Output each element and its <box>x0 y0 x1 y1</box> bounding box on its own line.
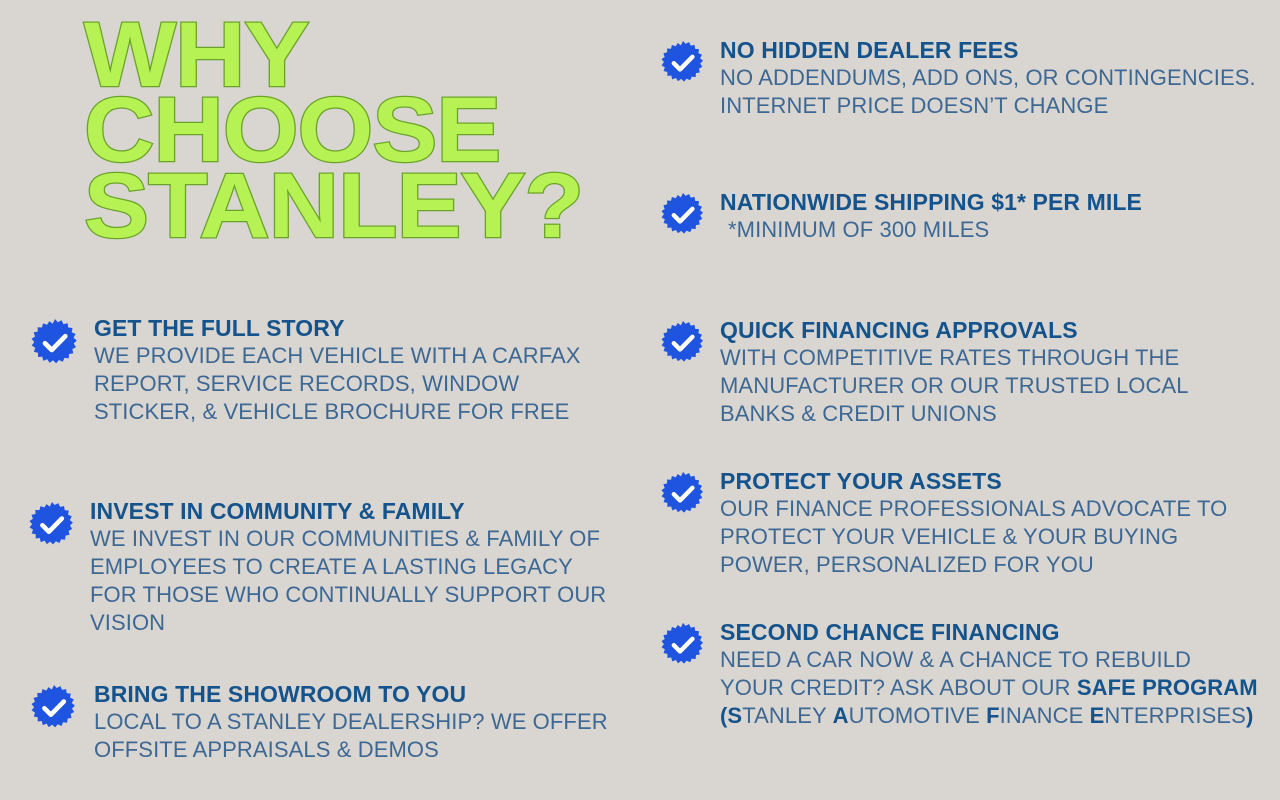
desc-word-enterprises: NTERPRISES <box>1104 703 1246 728</box>
verified-check-badge-icon <box>30 318 80 368</box>
feature-title: NATIONWIDE SHIPPING $1* PER MILE <box>716 190 1260 216</box>
feature-title: PROTECT YOUR ASSETS <box>716 469 1260 495</box>
verified-check-badge-icon <box>660 320 706 366</box>
feature-item-no-hidden-dealer-fees: NO HIDDEN DEALER FEES NO ADDENDUMS, ADD … <box>660 38 1260 120</box>
verified-check-badge-icon <box>30 684 78 732</box>
feature-item-quick-financing-approvals: QUICK FINANCING APPROVALS WITH COMPETITI… <box>660 318 1260 428</box>
page-title: WHY CHOOSE STANLEY? <box>84 18 635 244</box>
desc-cap-f: F <box>986 703 1000 728</box>
feature-description: NEED A CAR NOW & A CHANCE TO REBUILD YOU… <box>716 646 1260 730</box>
verified-check-badge-icon <box>660 40 706 86</box>
feature-title: GET THE FULL STORY <box>88 316 610 342</box>
feature-text-block: QUICK FINANCING APPROVALS WITH COMPETITI… <box>716 318 1260 428</box>
feature-description: OUR FINANCE PROFESSIONALS ADVOCATE TO PR… <box>716 495 1260 579</box>
feature-text-block: NO HIDDEN DEALER FEES NO ADDENDUMS, ADD … <box>716 38 1260 120</box>
feature-title: NO HIDDEN DEALER FEES <box>716 38 1260 64</box>
desc-program-close: ) <box>1246 703 1253 728</box>
feature-text-block: BRING THE SHOWROOM TO YOU LOCAL TO A STA… <box>86 682 610 764</box>
feature-text-block: SECOND CHANCE FINANCING NEED A CAR NOW &… <box>716 620 1260 730</box>
desc-word-stanley: TANLEY <box>742 703 832 728</box>
verified-check-badge-icon <box>660 471 706 517</box>
desc-word-finance: INANCE <box>1000 703 1090 728</box>
feature-text-block: PROTECT YOUR ASSETS OUR FINANCE PROFESSI… <box>716 469 1260 579</box>
feature-title: BRING THE SHOWROOM TO YOU <box>86 682 610 708</box>
verified-check-badge-icon <box>28 501 76 549</box>
feature-item-nationwide-shipping: NATIONWIDE SHIPPING $1* PER MILE *MINIMU… <box>660 190 1260 244</box>
feature-description: LOCAL TO A STANLEY DEALERSHIP? WE OFFER … <box>86 708 610 764</box>
feature-text-block: NATIONWIDE SHIPPING $1* PER MILE *MINIMU… <box>716 190 1260 244</box>
feature-description: WE INVEST IN OUR COMMUNITIES & FAMILY OF… <box>84 525 608 638</box>
feature-item-invest-in-community-and-family: INVEST IN COMMUNITY & FAMILY WE INVEST I… <box>28 499 608 637</box>
feature-description-footnote: *MINIMUM OF 300 MILES <box>716 216 1260 244</box>
feature-item-protect-your-assets: PROTECT YOUR ASSETS OUR FINANCE PROFESSI… <box>660 469 1260 579</box>
verified-check-badge-icon <box>660 192 706 238</box>
feature-description: WITH COMPETITIVE RATES THROUGH THE MANUF… <box>716 344 1260 428</box>
feature-text-block: GET THE FULL STORY WE PROVIDE EACH VEHIC… <box>88 316 610 426</box>
feature-description: WE PROVIDE EACH VEHICLE WITH A CARFAX RE… <box>88 342 610 426</box>
desc-word-automotive: UTOMOTIVE <box>849 703 987 728</box>
verified-check-badge-icon <box>660 622 706 668</box>
desc-cap-e: E <box>1090 703 1105 728</box>
feature-title: SECOND CHANCE FINANCING <box>716 620 1260 646</box>
feature-title: QUICK FINANCING APPROVALS <box>716 318 1260 344</box>
feature-item-bring-the-showroom-to-you: BRING THE SHOWROOM TO YOU LOCAL TO A STA… <box>30 682 610 764</box>
desc-cap-a: A <box>833 703 849 728</box>
poster-canvas: WHY CHOOSE STANLEY? GET THE FULL STORY W… <box>0 0 1280 800</box>
feature-text-block: INVEST IN COMMUNITY & FAMILY WE INVEST I… <box>84 499 608 637</box>
feature-description: NO ADDENDUMS, ADD ONS, OR CONTINGENCIES.… <box>716 64 1260 120</box>
feature-item-second-chance-financing: SECOND CHANCE FINANCING NEED A CAR NOW &… <box>660 620 1260 730</box>
feature-title: INVEST IN COMMUNITY & FAMILY <box>84 499 608 525</box>
feature-item-get-the-full-story: GET THE FULL STORY WE PROVIDE EACH VEHIC… <box>30 316 610 426</box>
